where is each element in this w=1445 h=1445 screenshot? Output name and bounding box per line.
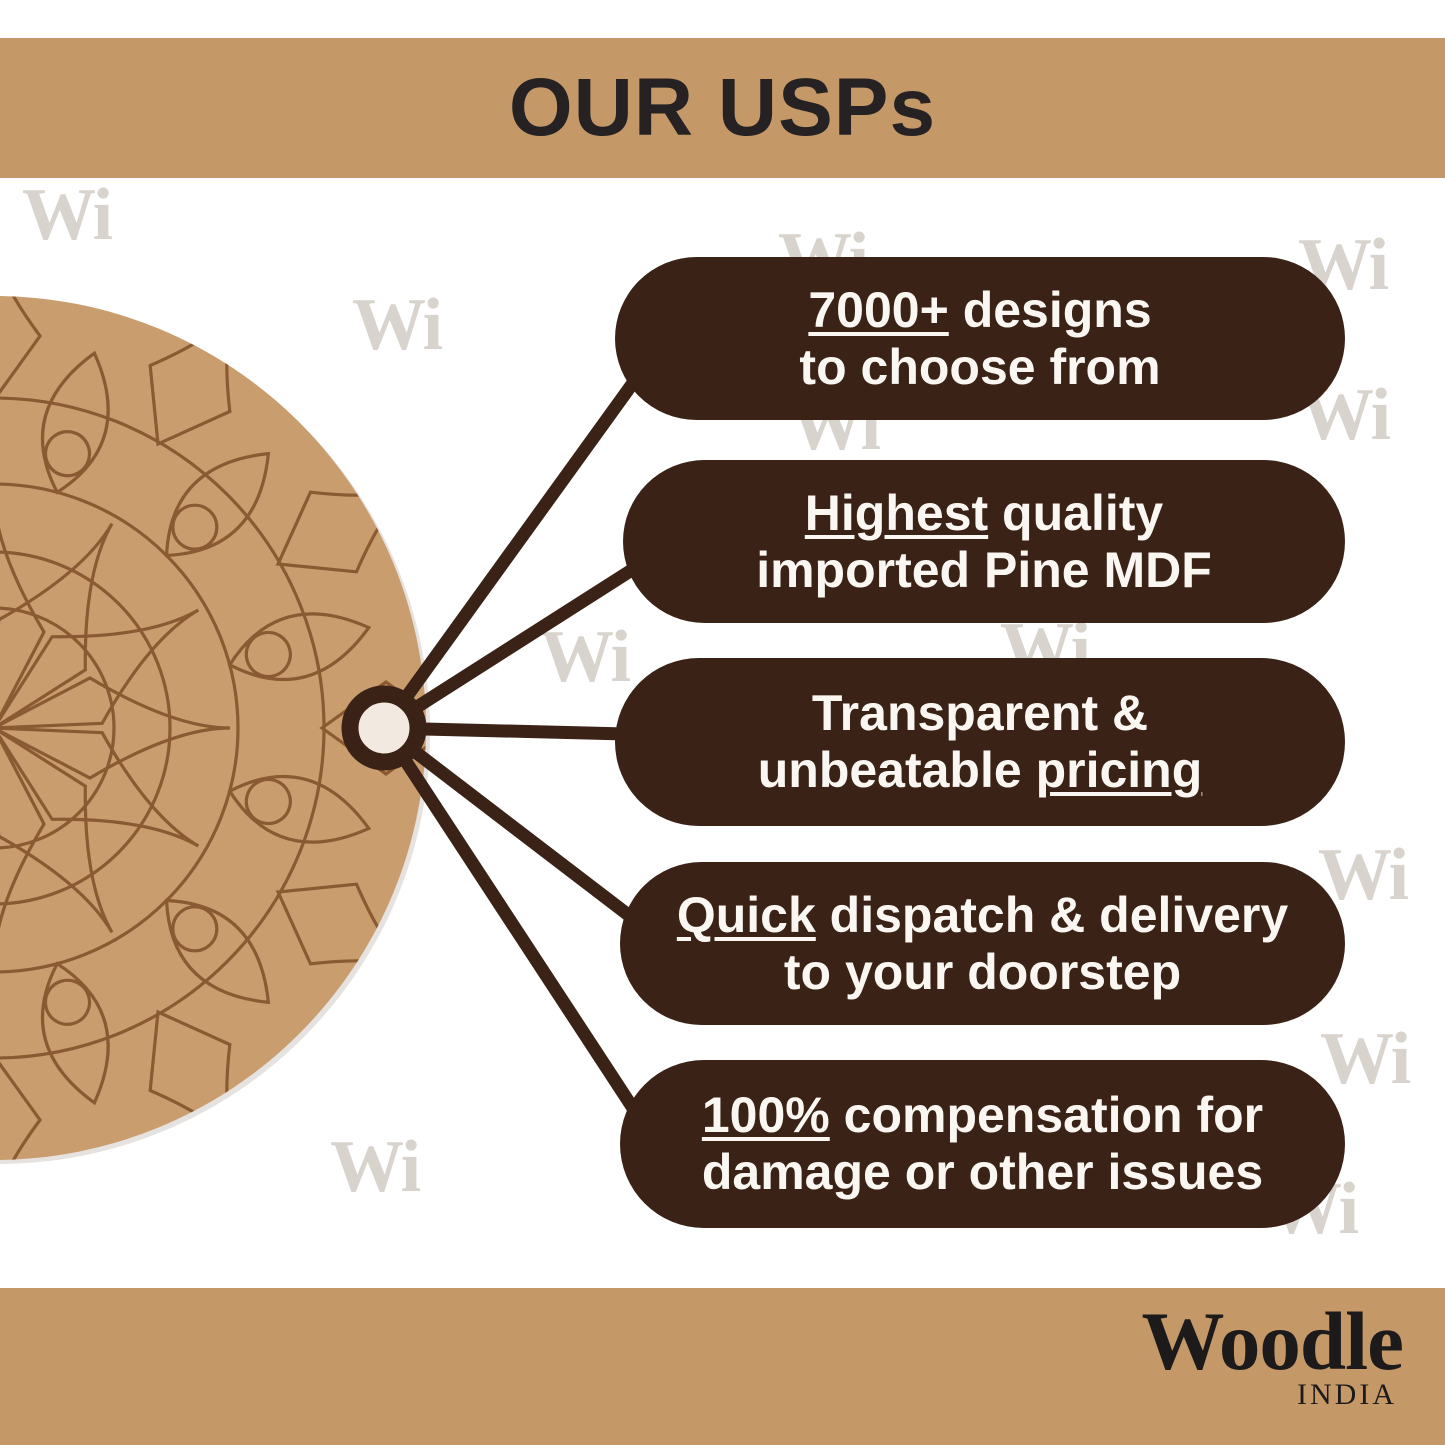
usp-pill-compensation[interactable]: 100% compensation for damage or other is… — [620, 1060, 1345, 1228]
usp-line-1-rest: designs — [949, 282, 1152, 338]
usp-line-1-rest: dispatch & delivery — [816, 887, 1288, 943]
page-title: OUR USPs — [0, 38, 1445, 178]
usp-highlight: 100% — [702, 1087, 830, 1143]
usp-highlight: Highest — [805, 485, 988, 541]
usp-line-2-rest: unbeatable — [758, 742, 1036, 798]
usp-line-1-rest: compensation for — [830, 1087, 1263, 1143]
usp-list: 7000+ designs to choose from Highest qua… — [0, 0, 1445, 1445]
usp-line-1: 7000+ designs — [808, 282, 1151, 339]
usp-highlight: Quick — [677, 887, 816, 943]
usp-line-1: Quick dispatch & delivery — [677, 887, 1288, 944]
usp-line-2: to your doorstep — [784, 944, 1181, 1001]
usp-line-2: unbeatable pricing — [758, 742, 1203, 799]
usp-line-2: imported Pine MDF — [756, 542, 1212, 599]
header-band: OUR USPs — [0, 38, 1445, 178]
usp-pill-material-quality[interactable]: Highest quality imported Pine MDF — [623, 460, 1345, 623]
usp-highlight: pricing — [1036, 742, 1203, 798]
usp-line-1: Transparent & — [812, 685, 1148, 742]
brand-name: Woodle — [1142, 1302, 1403, 1382]
usp-pill-designs-count[interactable]: 7000+ designs to choose from — [615, 257, 1345, 420]
usp-line-1: Highest quality — [805, 485, 1163, 542]
usp-highlight: 7000+ — [808, 282, 948, 338]
infographic-page: Wi Wi Wi Wi Wi Wi Wi Wi Wi Wi Wi Wi — [0, 0, 1445, 1445]
brand-logo: Woodle INDIA — [1142, 1302, 1403, 1412]
usp-line-1-rest: quality — [988, 485, 1163, 541]
usp-line-2: to choose from — [799, 339, 1160, 396]
usp-pill-dispatch-delivery[interactable]: Quick dispatch & delivery to your doorst… — [620, 862, 1345, 1025]
usp-pill-pricing[interactable]: Transparent & unbeatable pricing — [615, 658, 1345, 826]
footer-band: Woodle INDIA — [0, 1288, 1445, 1445]
usp-line-2: damage or other issues — [702, 1144, 1263, 1201]
usp-line-1: 100% compensation for — [702, 1087, 1263, 1144]
